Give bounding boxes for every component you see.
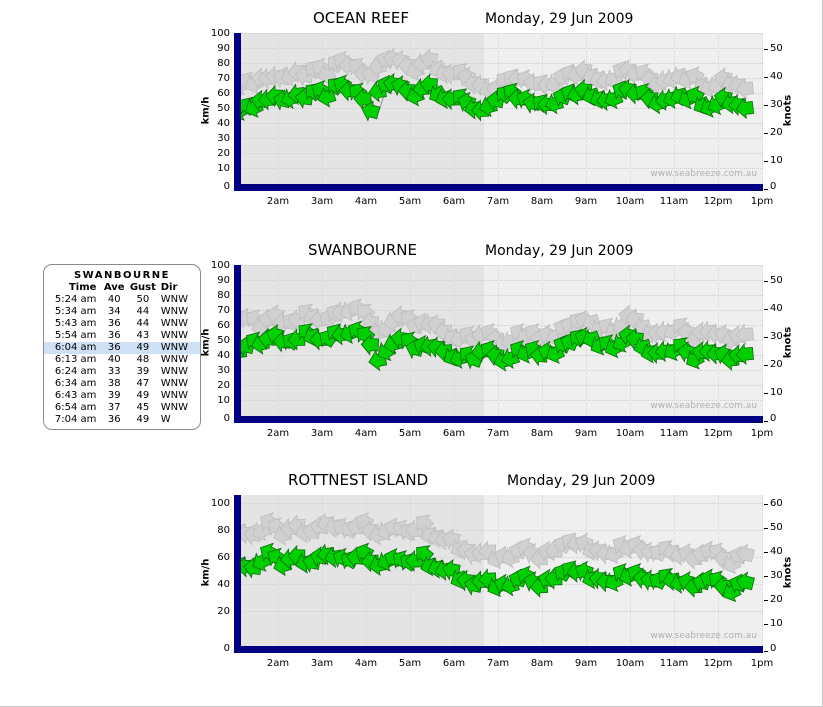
cell-ave: 40 <box>100 294 128 306</box>
chart-title-ocean-reef: OCEAN REEF <box>313 9 409 27</box>
ytick-right: 50 <box>770 275 783 286</box>
xtick: 5am <box>390 658 430 669</box>
table-row[interactable]: 5:34 am3444WNW <box>44 306 200 318</box>
xtick: 10am <box>610 196 650 207</box>
chart-date-swanbourne: Monday, 29 Jun 2009 <box>485 243 633 259</box>
ytick-right: 60 <box>770 498 783 509</box>
xtick: 4am <box>346 658 386 669</box>
xtick: 2am <box>258 196 298 207</box>
page-root: OCEAN REEF Monday, 29 Jun 2009 km/h knot… <box>0 0 823 707</box>
data-table: Time Ave Gust Dir 5:24 am4050WNW5:34 am3… <box>44 281 200 426</box>
cell-dir: WNW <box>158 306 200 318</box>
cell-time: 6:13 am <box>44 354 100 366</box>
x-axis-swanbourne <box>234 416 763 423</box>
cell-dir: WNW <box>158 330 200 342</box>
ytick-right: 0 <box>770 413 776 424</box>
table-row[interactable]: 5:24 am4050WNW <box>44 294 200 306</box>
ytick-left: 10 <box>198 395 230 406</box>
xtick: 8am <box>522 428 562 439</box>
xtick: 10am <box>610 658 650 669</box>
table-row[interactable]: 6:04 am3649WNW <box>44 342 200 354</box>
chart-date-ocean-reef: Monday, 29 Jun 2009 <box>485 11 633 27</box>
cell-ave: 34 <box>100 306 128 318</box>
ytick-right: 20 <box>770 594 783 605</box>
ytick-right: 40 <box>770 71 783 82</box>
ytick-left: 80 <box>198 58 230 69</box>
cell-gust: 43 <box>128 330 158 342</box>
chart-rottnest-island: ROTTNEST ISLAND Monday, 29 Jun 2009 km/h… <box>0 462 823 682</box>
xtick: 3am <box>302 428 342 439</box>
ytick-right: 40 <box>770 303 783 314</box>
xtick: 9am <box>566 658 606 669</box>
ytick-left: 40 <box>198 118 230 129</box>
cell-time: 6:34 am <box>44 378 100 390</box>
ytick-right: 50 <box>770 522 783 533</box>
xtick: 3am <box>302 196 342 207</box>
cell-dir: WNW <box>158 342 200 354</box>
table-row[interactable]: 5:54 am3643WNW <box>44 330 200 342</box>
ytick-left: 30 <box>198 365 230 376</box>
table-row[interactable]: 6:24 am3339WNW <box>44 366 200 378</box>
xtick: 11am <box>654 428 694 439</box>
cell-gust: 45 <box>128 402 158 414</box>
ytick-left: 70 <box>198 73 230 84</box>
cell-gust: 50 <box>128 294 158 306</box>
x-axis-rottnest-island <box>234 646 763 653</box>
plot-area-swanbourne: www.seabreeze.com.au <box>234 265 763 423</box>
ytick-left: 40 <box>198 579 230 590</box>
table-row[interactable]: 6:43 am3949WNW <box>44 390 200 402</box>
xtick: 8am <box>522 658 562 669</box>
cell-ave: 37 <box>100 402 128 414</box>
cell-ave: 36 <box>100 330 128 342</box>
chart-ocean-reef: OCEAN REEF Monday, 29 Jun 2009 km/h knot… <box>0 0 823 220</box>
xtick: 1pm <box>742 428 782 439</box>
cell-ave: 36 <box>100 318 128 330</box>
xtick: 9am <box>566 196 606 207</box>
cell-gust: 49 <box>128 414 158 426</box>
xtick: 1pm <box>742 658 782 669</box>
ytick-right: 40 <box>770 546 783 557</box>
ytick-right: 10 <box>770 155 783 166</box>
plot-area-rottnest-island: www.seabreeze.com.au <box>234 495 763 653</box>
xtick: 5am <box>390 428 430 439</box>
column-header-ave: Ave <box>100 281 128 294</box>
ytick-left: 90 <box>198 43 230 54</box>
cell-ave: 36 <box>100 414 128 426</box>
xtick: 7am <box>478 658 518 669</box>
watermark-ocean-reef: www.seabreeze.com.au <box>650 169 757 179</box>
table-row[interactable]: 6:13 am4048WNW <box>44 354 200 366</box>
cell-time: 6:04 am <box>44 342 100 354</box>
ytick-right: 20 <box>770 359 783 370</box>
table-row[interactable]: 5:43 am3644WNW <box>44 318 200 330</box>
chart-title-rottnest-island: ROTTNEST ISLAND <box>288 471 428 489</box>
ytick-right: 30 <box>770 331 783 342</box>
ytick-left: 90 <box>198 275 230 286</box>
y-axis-rottnest-island <box>234 495 241 653</box>
cell-gust: 49 <box>128 390 158 402</box>
ytick-left: 0 <box>198 181 230 192</box>
chart-date-rottnest-island: Monday, 29 Jun 2009 <box>507 473 655 489</box>
ytick-left: 30 <box>198 133 230 144</box>
ytick-right: 10 <box>770 618 783 629</box>
table-row[interactable]: 7:04 am3649W <box>44 414 200 426</box>
xtick: 2am <box>258 428 298 439</box>
ytick-right: 50 <box>770 43 783 54</box>
xtick: 4am <box>346 428 386 439</box>
y-axis-label-right-rottnest: knots <box>783 553 794 593</box>
cell-ave: 39 <box>100 390 128 402</box>
cell-time: 6:43 am <box>44 390 100 402</box>
ytick-left: 60 <box>198 320 230 331</box>
watermark-rottnest-island: www.seabreeze.com.au <box>650 631 757 641</box>
xtick: 10am <box>610 428 650 439</box>
xtick: 12pm <box>698 196 738 207</box>
ytick-left: 40 <box>198 350 230 361</box>
ytick-left: 20 <box>198 380 230 391</box>
ytick-right: 0 <box>770 181 776 192</box>
ytick-left: 50 <box>198 103 230 114</box>
cell-dir: WNW <box>158 390 200 402</box>
cell-gust: 44 <box>128 318 158 330</box>
xtick: 5am <box>390 196 430 207</box>
cell-dir: WNW <box>158 402 200 414</box>
cell-time: 5:34 am <box>44 306 100 318</box>
table-row[interactable]: 6:34 am3847WNW <box>44 378 200 390</box>
y-axis-label-right-swanbourne: knots <box>783 323 794 363</box>
cell-dir: WNW <box>158 294 200 306</box>
ytick-left: 80 <box>198 290 230 301</box>
plot-area-ocean-reef: www.seabreeze.com.au <box>234 33 763 191</box>
ytick-left: 100 <box>198 260 230 271</box>
cell-dir: WNW <box>158 318 200 330</box>
cell-gust: 47 <box>128 378 158 390</box>
data-table-title: SWANBOURNE <box>44 270 200 281</box>
xtick: 12pm <box>698 428 738 439</box>
ytick-left: 70 <box>198 305 230 316</box>
cell-time: 6:24 am <box>44 366 100 378</box>
cell-time: 6:54 am <box>44 402 100 414</box>
xtick: 3am <box>302 658 342 669</box>
cell-gust: 44 <box>128 306 158 318</box>
ytick-left: 10 <box>198 163 230 174</box>
column-header-gust: Gust <box>128 281 158 294</box>
watermark-swanbourne: www.seabreeze.com.au <box>650 401 757 411</box>
ytick-left: 0 <box>198 643 230 654</box>
cell-gust: 39 <box>128 366 158 378</box>
x-axis-ocean-reef <box>234 184 763 191</box>
cell-gust: 48 <box>128 354 158 366</box>
ytick-left: 100 <box>198 498 230 509</box>
cell-ave: 40 <box>100 354 128 366</box>
ytick-left: 100 <box>198 28 230 39</box>
xtick: 4am <box>346 196 386 207</box>
xtick: 6am <box>434 428 474 439</box>
series-rottnest-island <box>234 495 763 653</box>
cell-time: 5:24 am <box>44 294 100 306</box>
y-axis-swanbourne <box>234 265 241 423</box>
y-axis-ocean-reef <box>234 33 241 191</box>
column-header-time: Time <box>44 281 100 294</box>
xtick: 1pm <box>742 196 782 207</box>
ytick-right: 30 <box>770 99 783 110</box>
xtick: 6am <box>434 658 474 669</box>
cell-gust: 49 <box>128 342 158 354</box>
cell-time: 7:04 am <box>44 414 100 426</box>
cell-dir: W <box>158 414 200 426</box>
y-axis-label-right-ocean-reef: knots <box>783 91 794 131</box>
xtick: 12pm <box>698 658 738 669</box>
ytick-right: 0 <box>770 643 776 654</box>
table-header-row: Time Ave Gust Dir <box>44 281 200 294</box>
wind-data-table[interactable]: SWANBOURNE Time Ave Gust Dir 5:24 am4050… <box>43 264 201 430</box>
xtick: 9am <box>566 428 606 439</box>
ytick-right: 10 <box>770 387 783 398</box>
ytick-left: 0 <box>198 413 230 424</box>
cell-ave: 36 <box>100 342 128 354</box>
cell-ave: 38 <box>100 378 128 390</box>
xtick: 7am <box>478 196 518 207</box>
cell-dir: WNW <box>158 366 200 378</box>
ytick-left: 60 <box>198 88 230 99</box>
cell-time: 5:43 am <box>44 318 100 330</box>
ytick-left: 60 <box>198 552 230 563</box>
cell-time: 5:54 am <box>44 330 100 342</box>
ytick-right: 30 <box>770 570 783 581</box>
series-ocean-reef <box>234 33 763 191</box>
chart-title-swanbourne: SWANBOURNE <box>308 241 417 259</box>
cell-dir: WNW <box>158 378 200 390</box>
xtick: 8am <box>522 196 562 207</box>
xtick: 6am <box>434 196 474 207</box>
cell-dir: WNW <box>158 354 200 366</box>
ytick-left: 50 <box>198 335 230 346</box>
xtick: 7am <box>478 428 518 439</box>
xtick: 11am <box>654 658 694 669</box>
xtick: 11am <box>654 196 694 207</box>
ytick-right: 20 <box>770 127 783 138</box>
table-body: 5:24 am4050WNW5:34 am3444WNW5:43 am3644W… <box>44 294 200 426</box>
series-swanbourne <box>234 265 763 423</box>
ytick-left: 20 <box>198 606 230 617</box>
table-row[interactable]: 6:54 am3745WNW <box>44 402 200 414</box>
ytick-left: 20 <box>198 148 230 159</box>
cell-ave: 33 <box>100 366 128 378</box>
xtick: 2am <box>258 658 298 669</box>
ytick-left: 80 <box>198 525 230 536</box>
column-header-dir: Dir <box>158 281 200 294</box>
